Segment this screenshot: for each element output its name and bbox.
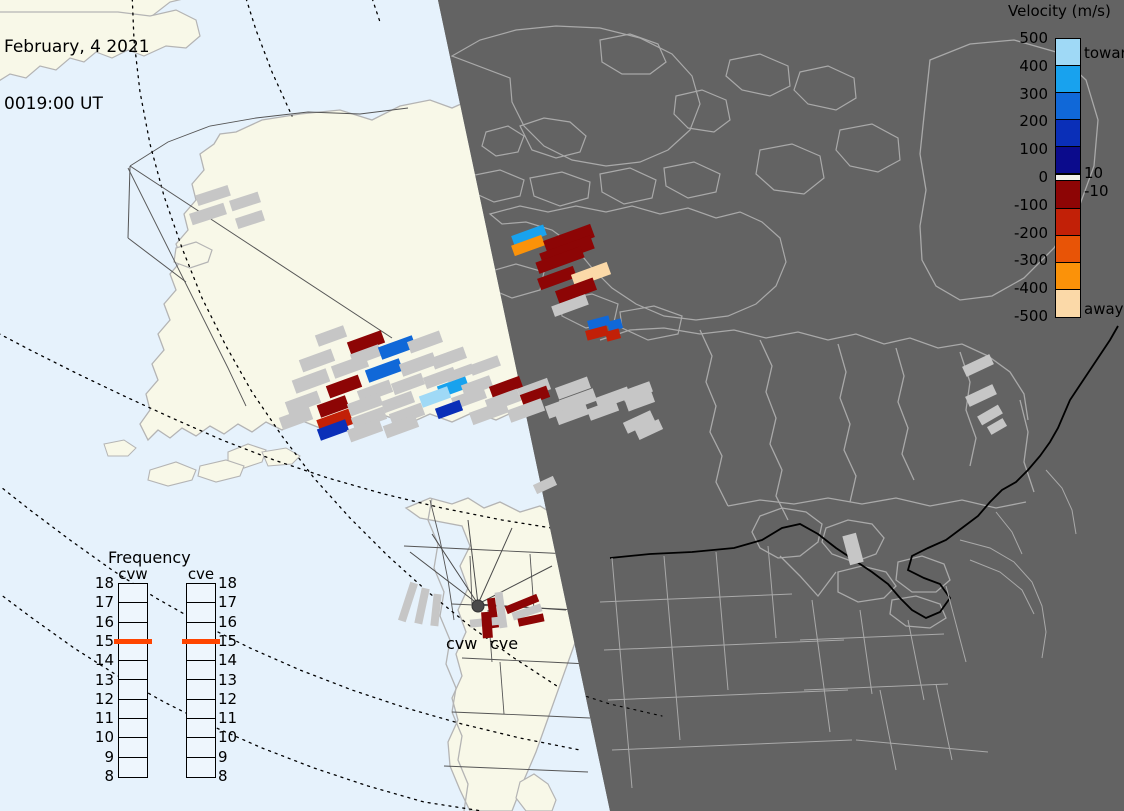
frequency-tick-cvw-18: 18 — [88, 574, 114, 592]
colorbar-title: Velocity (m/s) — [1008, 2, 1111, 20]
timestamp: February, 4 2021 0019:00 UT — [4, 0, 150, 152]
frequency-tick-cve-12: 12 — [218, 690, 244, 708]
frequency-segment — [119, 680, 147, 699]
colorbar-away-label: away — [1084, 300, 1124, 318]
frequency-marker-cve — [182, 639, 220, 644]
timestamp-date: February, 4 2021 — [4, 38, 150, 57]
frequency-tick-cve-11: 11 — [218, 709, 244, 727]
radar-site-marker[interactable] — [472, 600, 484, 612]
colorbar-toward-label: toward — [1084, 44, 1124, 62]
frequency-tick-cvw-10: 10 — [88, 728, 114, 746]
superdarn-map-view: February, 4 2021 0019:00 UT Velocity (m/… — [0, 0, 1124, 811]
colorbar-tick--200: -200 — [990, 224, 1048, 242]
velocity-colorbar[interactable] — [1055, 38, 1081, 318]
colorbar-band-9 — [1056, 290, 1080, 317]
colorbar-tick-0: 0 — [990, 168, 1048, 186]
colorbar-band-0 — [1056, 39, 1080, 66]
frequency-tick-cvw-15: 15 — [88, 632, 114, 650]
colorbar-tick-200: 200 — [990, 112, 1048, 130]
frequency-tick-cve-15: 15 — [218, 632, 244, 650]
frequency-tick-cvw-9: 9 — [88, 748, 114, 766]
frequency-segment — [187, 738, 215, 757]
frequency-tick-cve-10: 10 — [218, 728, 244, 746]
frequency-segment — [119, 603, 147, 622]
timestamp-time: 0019:00 UT — [4, 95, 150, 114]
frequency-segment — [119, 661, 147, 680]
frequency-marker-cvw — [114, 639, 152, 644]
colorbar-band-6 — [1056, 209, 1080, 236]
frequency-segment — [119, 642, 147, 661]
colorbar-tick-300: 300 — [990, 85, 1048, 103]
colorbar-band-8 — [1056, 263, 1080, 290]
frequency-segment — [187, 758, 215, 777]
colorbar-band-3 — [1056, 120, 1080, 147]
colorbar-tick--300: -300 — [990, 251, 1048, 269]
colorbar-zero-band — [1056, 174, 1080, 181]
frequency-segment — [187, 680, 215, 699]
site-label-cve: cve — [490, 634, 518, 653]
frequency-segment — [119, 584, 147, 603]
colorbar-tick--400: -400 — [990, 279, 1048, 297]
frequency-bar-cvw[interactable] — [118, 583, 148, 778]
frequency-tick-cve-16: 16 — [218, 613, 244, 631]
colorbar-band-1 — [1056, 66, 1080, 93]
map-canvas — [0, 0, 1124, 811]
colorbar-tick-500: 500 — [990, 29, 1048, 47]
frequency-segment — [187, 719, 215, 738]
frequency-tick-cvw-17: 17 — [88, 593, 114, 611]
colorbar-tick-100: 100 — [990, 140, 1048, 158]
frequency-tick-cve-9: 9 — [218, 748, 244, 766]
frequency-segment — [119, 738, 147, 757]
colorbar-tick--100: -100 — [990, 196, 1048, 214]
frequency-segment — [119, 700, 147, 719]
colorbar-tick--500: -500 — [990, 307, 1048, 325]
frequency-tick-cve-18: 18 — [218, 574, 244, 592]
frequency-tick-cvw-8: 8 — [88, 767, 114, 785]
frequency-segment — [187, 642, 215, 661]
colorbar-band-7 — [1056, 236, 1080, 263]
frequency-tick-cve-17: 17 — [218, 593, 244, 611]
frequency-tick-cvw-14: 14 — [88, 651, 114, 669]
frequency-segment — [119, 758, 147, 777]
frequency-radar-label-cvw: cvw — [110, 565, 156, 583]
colorbar-band-5 — [1056, 181, 1080, 208]
frequency-bar-cve[interactable] — [186, 583, 216, 778]
frequency-tick-cvw-16: 16 — [88, 613, 114, 631]
colorbar-band-4 — [1056, 147, 1080, 174]
colorbar-band-2 — [1056, 93, 1080, 120]
frequency-tick-cve-13: 13 — [218, 671, 244, 689]
frequency-tick-cve-8: 8 — [218, 767, 244, 785]
frequency-segment — [187, 700, 215, 719]
colorbar-positive-threshold-label: 10 — [1084, 164, 1103, 182]
frequency-segment — [187, 584, 215, 603]
frequency-tick-cvw-11: 11 — [88, 709, 114, 727]
frequency-tick-cve-14: 14 — [218, 651, 244, 669]
frequency-segment — [119, 719, 147, 738]
frequency-segment — [187, 661, 215, 680]
frequency-segment — [187, 603, 215, 622]
frequency-tick-cvw-13: 13 — [88, 671, 114, 689]
colorbar-tick-400: 400 — [990, 57, 1048, 75]
site-label-cvw: cvw — [446, 634, 477, 653]
colorbar-negative-threshold-label: -10 — [1084, 182, 1109, 200]
frequency-tick-cvw-12: 12 — [88, 690, 114, 708]
